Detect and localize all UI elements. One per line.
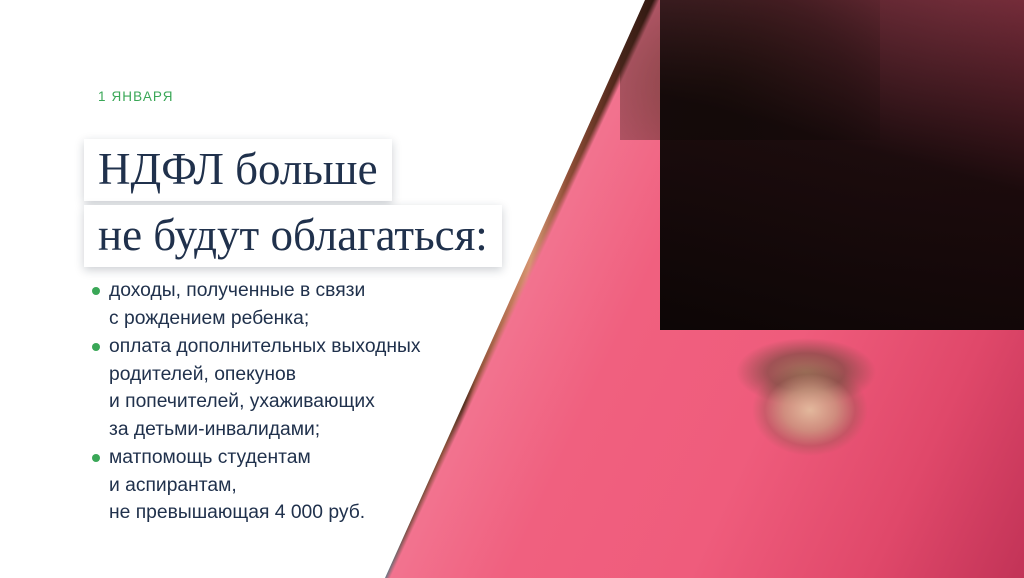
list-item-label: матпомощь студентам и аспирантам, не пре… <box>109 444 365 527</box>
date-eyebrow: 1 января <box>98 89 174 104</box>
title-line-2: не будут облагаться: <box>84 205 502 267</box>
list-item-label: оплата дополнительных выходных родителей… <box>109 333 421 443</box>
list-item-label: доходы, полученные в связи с рождением р… <box>109 277 365 332</box>
bullet-dot-icon <box>92 343 100 351</box>
title-line-1: НДФЛ больше <box>84 139 392 201</box>
list-item: оплата дополнительных выходных родителей… <box>92 333 522 443</box>
slide-content: 1 января НДФЛ больше не будут облагаться… <box>0 0 1024 578</box>
bullet-list: доходы, полученные в связи с рождением р… <box>92 277 522 528</box>
bullet-dot-icon <box>92 454 100 462</box>
page-title: НДФЛ больше не будут облагаться: <box>84 139 502 267</box>
bullet-dot-icon <box>92 287 100 295</box>
list-item: доходы, полученные в связи с рождением р… <box>92 277 522 332</box>
slide-canvas: 1 января НДФЛ больше не будут облагаться… <box>0 0 1024 578</box>
list-item: матпомощь студентам и аспирантам, не пре… <box>92 444 522 527</box>
